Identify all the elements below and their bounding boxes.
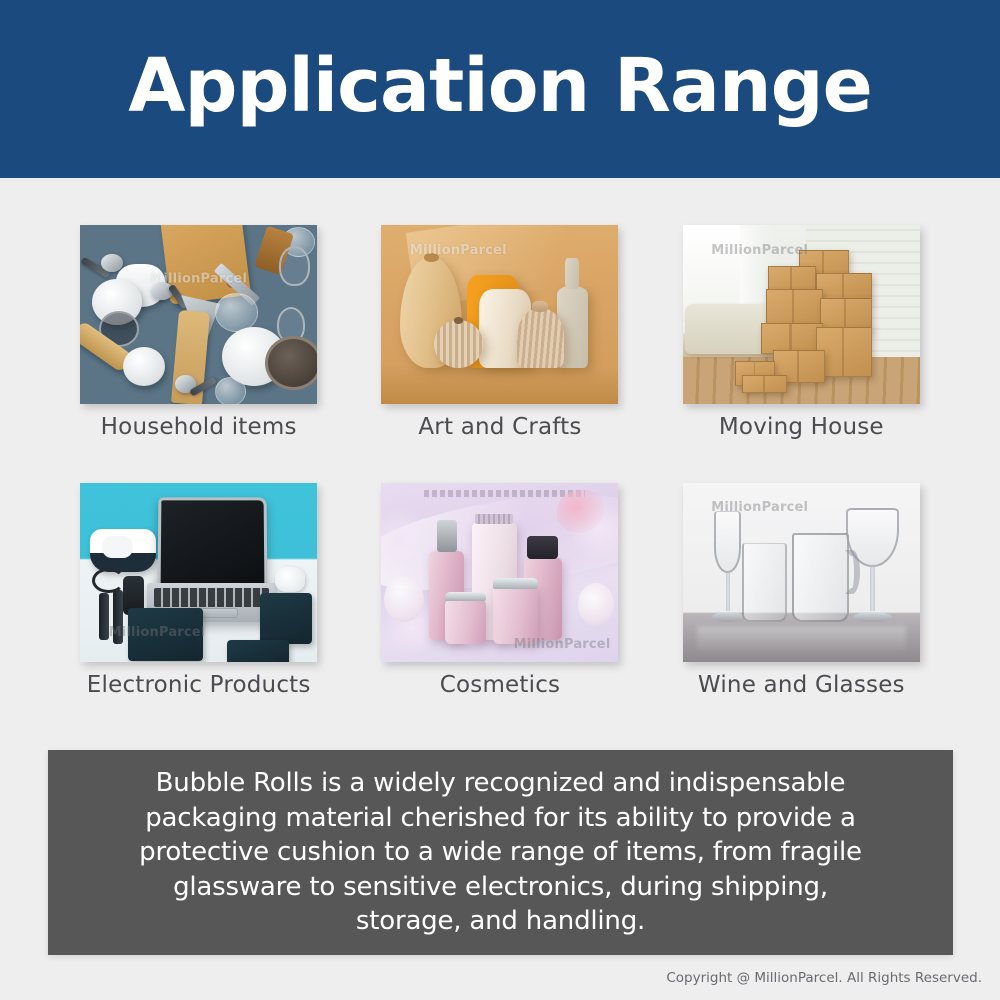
household-items-image	[80, 225, 317, 404]
card-label-electronic-products: Electronic Products	[87, 672, 311, 698]
thumbnail-cosmetics[interactable]: MillionParcel	[381, 483, 618, 662]
page-header: Application Range	[0, 0, 1000, 178]
poster-root: Application Range	[0, 0, 1000, 1000]
wine-and-glasses-image	[683, 483, 920, 662]
application-grid: MillionParcel Household items MillionPar…	[0, 178, 1000, 738]
card-label-cosmetics: Cosmetics	[440, 672, 561, 698]
card-label-art-and-crafts: Art and Crafts	[418, 414, 581, 440]
thumbnail-wine-and-glasses[interactable]: MillionParcel	[683, 483, 920, 662]
card-household-items[interactable]: MillionParcel Household items	[60, 225, 337, 481]
card-moving-house[interactable]: MillionParcel Moving House	[663, 225, 940, 481]
moving-house-image	[683, 225, 920, 404]
card-electronic-products[interactable]: MillionParcel Electronic Products	[60, 483, 337, 739]
card-label-moving-house: Moving House	[719, 414, 884, 440]
description-text: Bubble Rolls is a widely recognized and …	[121, 766, 881, 939]
thumbnail-household-items[interactable]: MillionParcel	[80, 225, 317, 404]
card-art-and-crafts[interactable]: MillionParcel Art and Crafts	[361, 225, 638, 481]
thumbnail-moving-house[interactable]: MillionParcel	[683, 225, 920, 404]
thumbnail-art-and-crafts[interactable]: MillionParcel	[381, 225, 618, 404]
copyright-footer: Copyright @ MillionParcel. All Rights Re…	[666, 970, 982, 986]
description-panel: Bubble Rolls is a widely recognized and …	[48, 750, 953, 955]
page-title: Application Range	[128, 49, 872, 129]
card-wine-and-glasses[interactable]: MillionParcel Wine and Glasses	[663, 483, 940, 739]
cosmetics-image	[381, 483, 618, 662]
card-label-household-items: Household items	[101, 414, 297, 440]
card-cosmetics[interactable]: MillionParcel Cosmetics	[361, 483, 638, 739]
electronic-products-image	[80, 483, 317, 662]
card-label-wine-and-glasses: Wine and Glasses	[698, 672, 905, 698]
thumbnail-electronic-products[interactable]: MillionParcel	[80, 483, 317, 662]
art-and-crafts-image	[381, 225, 618, 404]
